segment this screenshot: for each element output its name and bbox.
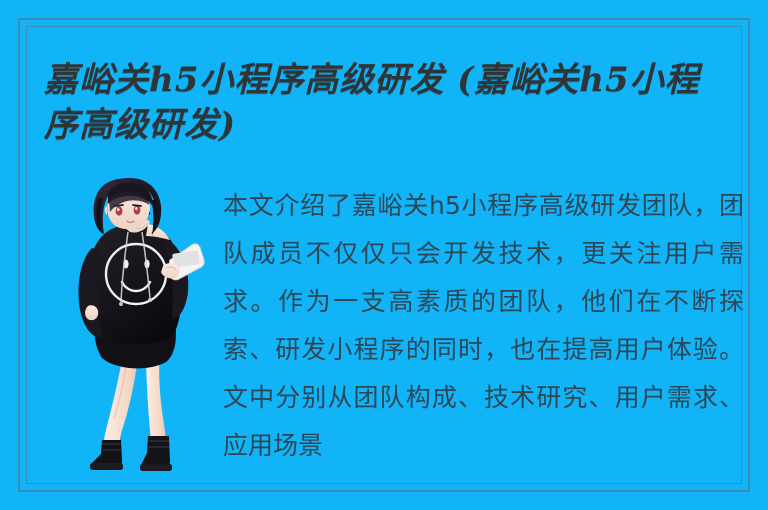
left-hand — [85, 305, 98, 320]
poster-canvas: 嘉峪关h5小程序高级研发 (嘉峪关h5小程序高级研发) — [0, 0, 768, 510]
page-title: 嘉峪关h5小程序高级研发 (嘉峪关h5小程序高级研发) — [44, 58, 724, 148]
boots — [90, 436, 172, 471]
anime-girl-with-phone-illustration — [62, 178, 214, 474]
body-paragraph: 本文介绍了嘉峪关h5小程序高级研发团队，团队成员不仅仅只会开发技术，更关注用户需… — [223, 182, 744, 482]
hoodie-body — [79, 217, 189, 369]
illustration-svg — [62, 178, 214, 474]
